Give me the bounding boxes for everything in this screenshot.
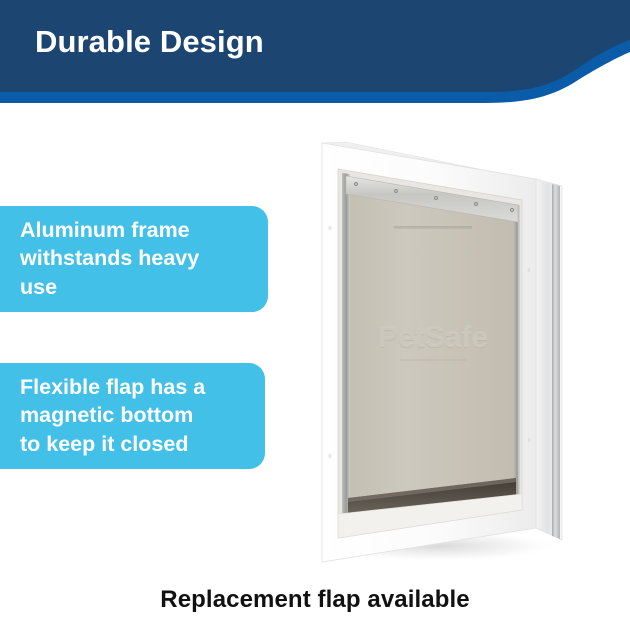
callout-flexible-flap: Flexible flap has a magnetic bottom to k…	[0, 363, 265, 469]
callout-line: to keep it closed	[20, 430, 249, 458]
callout-aluminum-frame: Aluminum frame withstands heavy use	[0, 206, 268, 312]
callout-line: Aluminum frame	[20, 216, 252, 244]
flap-left-channel	[342, 173, 350, 535]
callout-line: withstands heavy	[20, 244, 252, 272]
flap-printed-label	[394, 226, 472, 228]
page-title: Durable Design	[35, 24, 264, 60]
frame-edge-strip	[552, 184, 560, 539]
product-image-pet-door: PetSafe PetSafe	[290, 110, 590, 590]
svg-text:PetSafe: PetSafe	[378, 321, 488, 354]
header-banner: Durable Design	[0, 0, 630, 110]
infographic-page: Durable Design	[0, 0, 630, 630]
flap-right-channel	[514, 204, 520, 507]
callout-line: use	[20, 273, 252, 301]
callout-line: Flexible flap has a	[20, 373, 249, 401]
bottom-caption: Replacement flap available	[0, 586, 630, 614]
callout-line: magnetic bottom	[20, 401, 249, 429]
